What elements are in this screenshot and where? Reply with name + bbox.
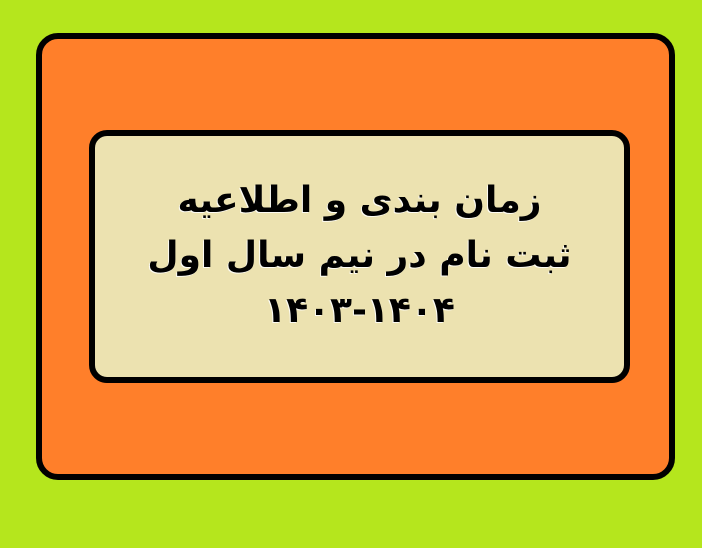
announcement-line-2: ثبت نام در نیم سال اول	[109, 229, 610, 284]
inner-beige-panel: زمان بندی و اطلاعیه ثبت نام در نیم سال ا…	[89, 130, 630, 383]
outer-orange-frame: زمان بندی و اطلاعیه ثبت نام در نیم سال ا…	[36, 33, 675, 480]
announcement-text-block: زمان بندی و اطلاعیه ثبت نام در نیم سال ا…	[95, 174, 624, 338]
announcement-academic-year: ۱۴۰۳-۱۴۰۴	[109, 284, 610, 339]
announcement-line-1: زمان بندی و اطلاعیه	[109, 174, 610, 229]
poster-canvas: زمان بندی و اطلاعیه ثبت نام در نیم سال ا…	[0, 0, 702, 548]
